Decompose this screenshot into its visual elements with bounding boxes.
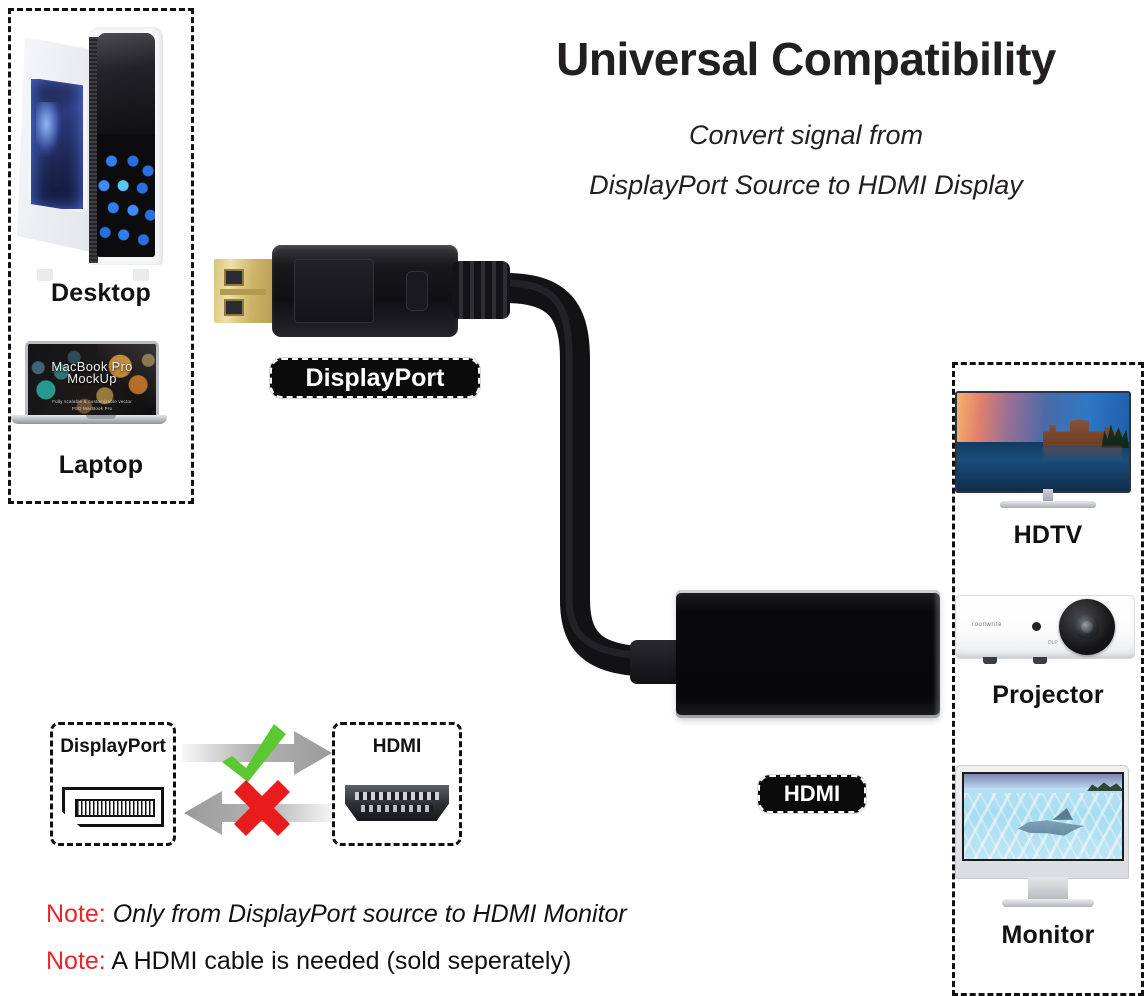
monitor-stand-neck <box>1028 877 1068 899</box>
projector-lens-icon <box>1059 599 1115 655</box>
projector-dlp-logo: DLP <box>1048 640 1058 646</box>
dp-contact-slot <box>220 289 266 295</box>
display-device-panel: HDTV rounwrite DLP Projector <box>952 362 1144 996</box>
source-device-panel: Desktop MacBook Pro MockUp Fully scalabl… <box>8 8 194 504</box>
dp-shell-inset <box>294 259 374 323</box>
note-keyword-1: Note: <box>46 900 106 928</box>
dp-contact-tab-top <box>224 269 244 286</box>
laptop-screen: MacBook Pro MockUp Fully scalable & cust… <box>25 341 159 421</box>
hdmi-port-pin-row-bottom <box>361 805 433 812</box>
note-line-2: Note: A HDMI cable is needed (sold seper… <box>46 947 571 976</box>
monitor-screen <box>962 772 1124 861</box>
dp-port-pins <box>75 799 155 817</box>
page-title: Universal Compatibility <box>470 32 1142 86</box>
displayport-shell <box>272 245 458 337</box>
hdtv-caption: HDTV <box>955 521 1141 550</box>
laptop-screen-text-3: Fully scalable & customizable vector <box>28 399 156 404</box>
hdmi-badge: HDMI <box>758 775 866 813</box>
compat-displayport-label: DisplayPort <box>53 736 173 758</box>
note-text-1: Only from DisplayPort source to HDMI Mon… <box>113 900 627 928</box>
projector-icon: rounwrite DLP <box>955 595 1141 669</box>
dp-contact-tab-bottom <box>224 299 244 316</box>
projector-ir-sensor <box>1032 622 1041 631</box>
displayport-badge: DisplayPort <box>270 358 480 398</box>
compat-hdmi-box: HDMI <box>332 722 462 846</box>
hdmi-port-icon <box>345 785 449 821</box>
displayport-gold-contacts <box>214 259 276 323</box>
infographic-canvas: Universal Compatibility Convert signal f… <box>0 0 1148 996</box>
monitor-icon <box>955 765 1141 911</box>
projector-foot-right <box>1033 657 1047 664</box>
hdmi-housing-edge-highlight <box>933 590 940 718</box>
displayport-plug <box>214 245 504 337</box>
laptop-trackpad-notch <box>86 415 116 419</box>
tower-window-glow <box>27 75 87 213</box>
hdtv-stand-base <box>1000 501 1096 508</box>
dp-strain-relief <box>452 261 510 319</box>
tower-gloss-panel <box>97 33 155 132</box>
tower-front-bezel <box>97 33 155 257</box>
hdmi-adapter-housing <box>676 590 940 718</box>
note-line-1: Note: Only from DisplayPort source to HD… <box>46 900 627 929</box>
laptop-screen-text-4: PSD MacBook Pro <box>28 406 156 411</box>
desktop-tower-icon <box>11 23 191 275</box>
hdtv-wallpaper-reflection <box>1043 446 1122 462</box>
projector-caption: Projector <box>955 681 1141 710</box>
laptop-screen-text-2: MockUp <box>28 371 156 386</box>
dp-shell-grip-pad <box>406 271 428 311</box>
compat-arrows <box>182 722 334 850</box>
displayport-port-icon <box>62 787 164 827</box>
laptop-caption: Laptop <box>11 451 191 480</box>
note-text-2: A HDMI cable is needed (sold seperately) <box>111 947 571 975</box>
projector-brand-text: rounwrite <box>972 622 1002 628</box>
tower-hex-mesh-icon <box>97 134 155 257</box>
hdtv-icon <box>955 391 1141 511</box>
hdtv-screen <box>955 391 1131 493</box>
laptop-icon: MacBook Pro MockUp Fully scalable & cust… <box>11 341 191 433</box>
desktop-caption: Desktop <box>11 279 191 308</box>
monitor-caption: Monitor <box>955 921 1141 950</box>
hdmi-port-pin-row-top <box>355 792 439 800</box>
subtitle-line-2: DisplayPort Source to HDMI Display <box>470 170 1142 201</box>
compat-hdmi-label: HDMI <box>335 736 459 758</box>
projector-foot-left <box>983 657 997 664</box>
monitor-stand-base <box>1002 899 1094 907</box>
compat-displayport-box: DisplayPort <box>50 722 176 846</box>
monitor-wallpaper-surface <box>964 774 1122 788</box>
subtitle-line-1: Convert signal from <box>470 120 1142 151</box>
note-keyword-2: Note: <box>46 947 106 975</box>
projector-lens-inner <box>1081 621 1093 633</box>
